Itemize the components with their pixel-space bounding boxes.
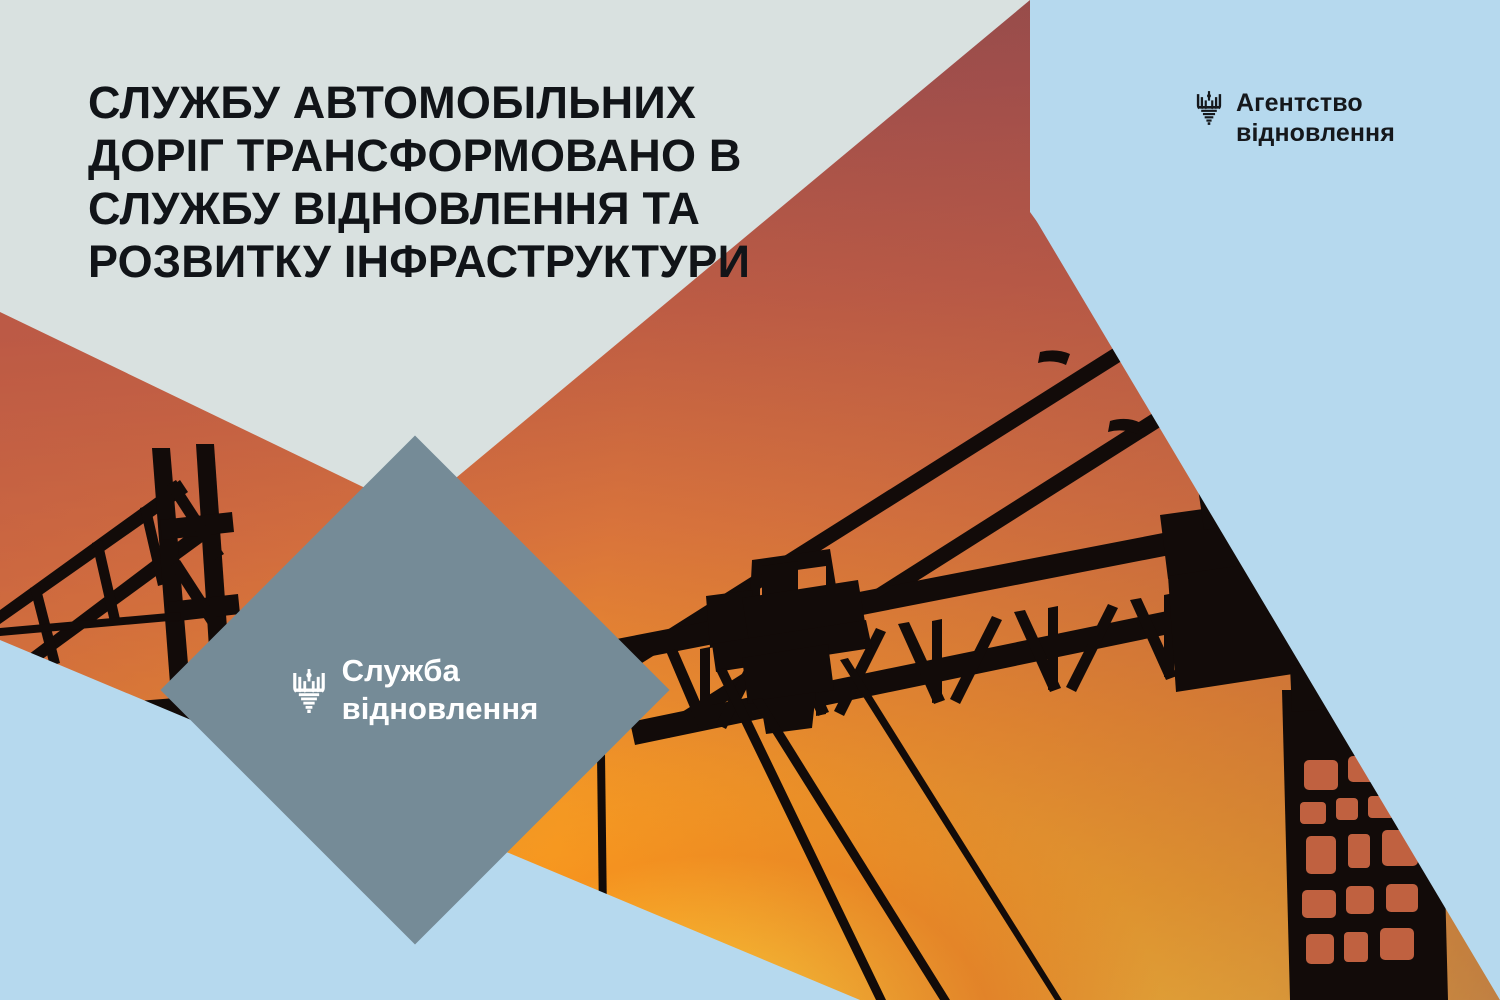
service-badge: Служба відновлення bbox=[160, 435, 669, 944]
page-title: СЛУЖБУ АВТОМОБІЛЬНИХ ДОРІГ ТРАНСФОРМОВАН… bbox=[88, 76, 848, 288]
ukrainian-trident-icon bbox=[292, 669, 326, 713]
ukrainian-trident-icon bbox=[1196, 91, 1222, 125]
service-badge-label: Служба відновлення bbox=[342, 652, 539, 728]
banner-graphic: СЛУЖБУ АВТОМОБІЛЬНИХ ДОРІГ ТРАНСФОРМОВАН… bbox=[0, 0, 1500, 1000]
agency-logo-label: Агентство відновлення bbox=[1236, 88, 1395, 148]
agency-logo: Агентство відновлення bbox=[1196, 88, 1395, 148]
